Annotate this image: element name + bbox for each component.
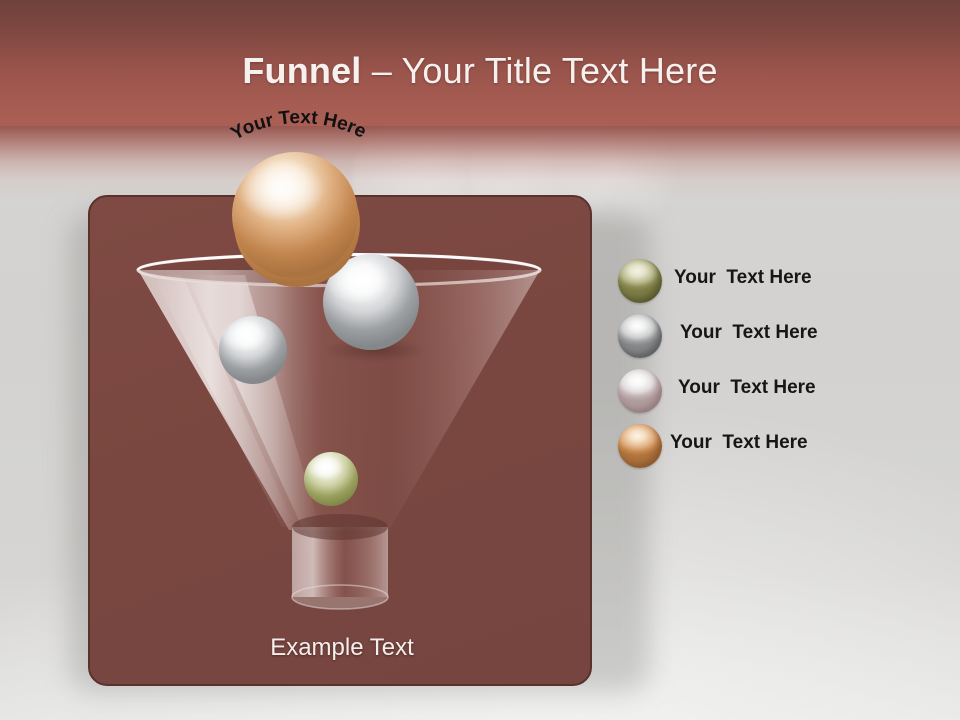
page-title-rest: – Your Title Text Here — [362, 50, 718, 91]
rose-sphere-icon — [618, 369, 662, 413]
legend-item-label: Your Text Here — [678, 377, 816, 399]
header-gradient-fade — [0, 126, 960, 200]
legend-item[interactable]: Your Text Here — [618, 255, 918, 310]
page-title: Funnel – Your Title Text Here — [0, 50, 960, 92]
funnel-stem-base-shade — [292, 597, 388, 609]
arc-label-textpath: Your Text Here — [228, 108, 370, 145]
copper-sphere-icon — [618, 424, 662, 468]
legend-item[interactable]: Your Text Here — [618, 420, 918, 475]
funnel-stem-top-opening — [292, 514, 388, 540]
olive-sphere-icon — [618, 259, 662, 303]
silver-sphere-icon — [618, 314, 662, 358]
legend-item[interactable]: Your Text Here — [618, 365, 918, 420]
sphere-highlight — [306, 456, 344, 480]
panel-caption: Example Text — [90, 634, 592, 662]
legend-item-label: Your Text Here — [670, 432, 808, 454]
legend-item-label: Your Text Here — [674, 267, 812, 289]
page-title-strong: Funnel — [242, 50, 361, 91]
legend: Your Text Here Your Text Here Your Text … — [618, 255, 918, 475]
arc-label-graphic: Your Text Here — [190, 108, 410, 198]
arc-label: Your Text Here — [228, 108, 370, 145]
legend-item-label: Your Text Here — [680, 322, 818, 344]
legend-item[interactable]: Your Text Here — [618, 310, 918, 365]
slide-canvas: Funnel – Your Title Text Here — [0, 0, 960, 720]
sphere-highlight — [220, 320, 268, 352]
